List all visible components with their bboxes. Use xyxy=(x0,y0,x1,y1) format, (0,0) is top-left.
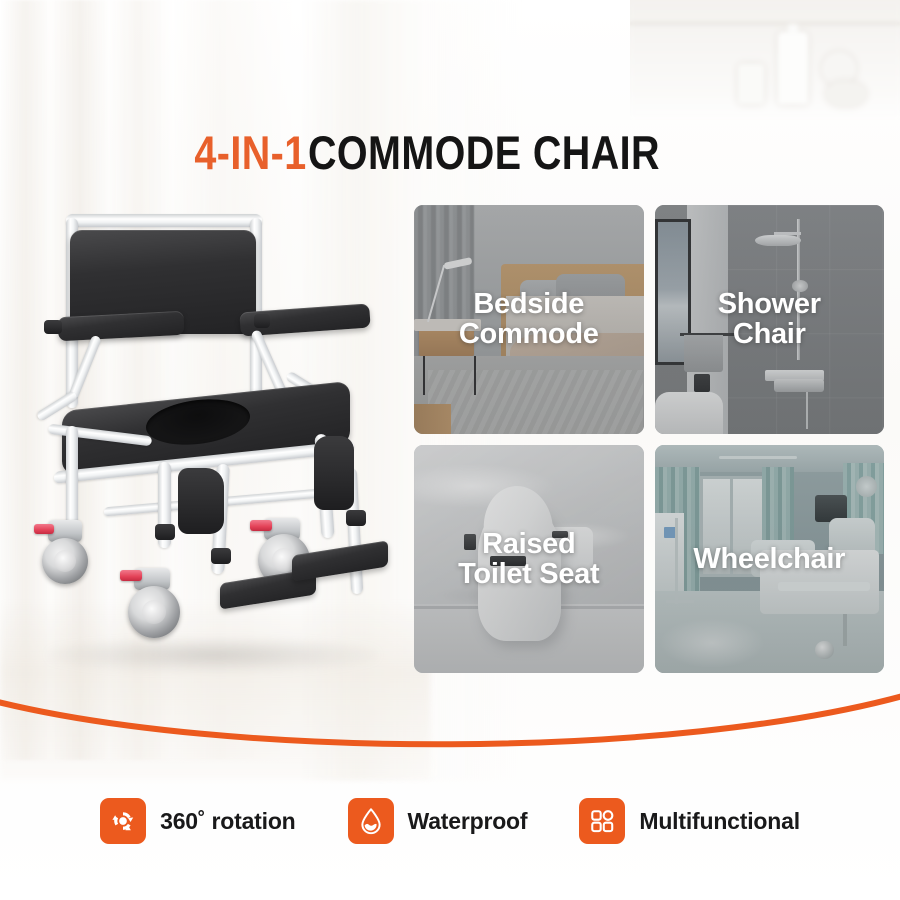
scenario-panel-shower-chair[interactable]: ShowerChair xyxy=(655,205,885,434)
grid-squares-icon xyxy=(579,798,625,844)
shelf-blur-overlay xyxy=(630,0,900,120)
background-bathroom-shelf-photo xyxy=(630,0,900,120)
wheel-guard-center xyxy=(178,468,224,534)
panel-label-wheelchair: Wheelchair xyxy=(655,544,885,574)
leg-rear-left xyxy=(66,426,78,532)
panel-label-raised-toilet-seat: RaisedToilet Seat xyxy=(414,529,644,589)
panel-label-bedside-commode: BedsideCommode xyxy=(414,289,644,349)
scenario-panel-wheelchair[interactable]: Wheelchair xyxy=(655,445,885,674)
scenario-panel-bedside-commode[interactable]: BedsideCommode xyxy=(414,205,644,434)
scenario-panel-grid: BedsideCommode ShowerChair xyxy=(414,205,884,673)
panel-label-line1: Raised xyxy=(482,528,575,560)
panel-label-shower-chair: ShowerChair xyxy=(655,289,885,349)
panel-label-line2: Toilet Seat xyxy=(458,558,599,590)
feature-bar: 360˚ rotation Waterproof xyxy=(0,798,900,844)
panel-label-line2: Chair xyxy=(733,318,806,350)
caster-brake-center xyxy=(250,520,272,531)
panel-label-line1: Shower xyxy=(718,288,821,320)
armrest-clamp-right xyxy=(254,314,270,328)
height-adjust-clamp-right xyxy=(346,510,366,526)
armrest-pad-left xyxy=(57,311,184,342)
product-ground-shadow xyxy=(48,638,378,672)
feature-label-multifunctional: Multifunctional xyxy=(639,808,800,835)
feature-waterproof: Waterproof xyxy=(348,798,528,844)
product-infographic: 4-IN-1COMMODE CHAIR xyxy=(0,0,900,900)
armrest-clamp-left xyxy=(44,320,62,334)
scenario-panel-raised-toilet-seat[interactable]: RaisedToilet Seat xyxy=(414,445,644,674)
push-handle-bar xyxy=(66,214,262,227)
feature-label-rotation: 360˚ rotation xyxy=(160,808,295,835)
panel-label-line2: Commode xyxy=(459,318,599,350)
feature-label-waterproof: Waterproof xyxy=(408,808,528,835)
feature-multifunctional: Multifunctional xyxy=(579,798,800,844)
product-image-commode-chair xyxy=(18,168,408,680)
water-droplet-icon xyxy=(348,798,394,844)
rotation-360-icon xyxy=(100,798,146,844)
caster-wheel-rear-left xyxy=(42,538,88,584)
wheel-guard-right xyxy=(314,436,354,510)
caster-wheel-front-left xyxy=(128,586,180,638)
height-adjust-clamp-center xyxy=(211,548,231,564)
panel-label-line1: Wheelchair xyxy=(693,543,845,575)
panel-label-line1: Bedside xyxy=(473,288,584,320)
caster-brake-front-left xyxy=(120,570,142,581)
caster-brake-rear-left xyxy=(34,524,54,534)
height-adjust-clamp-left xyxy=(155,524,175,540)
feature-rotation: 360˚ rotation xyxy=(100,798,295,844)
